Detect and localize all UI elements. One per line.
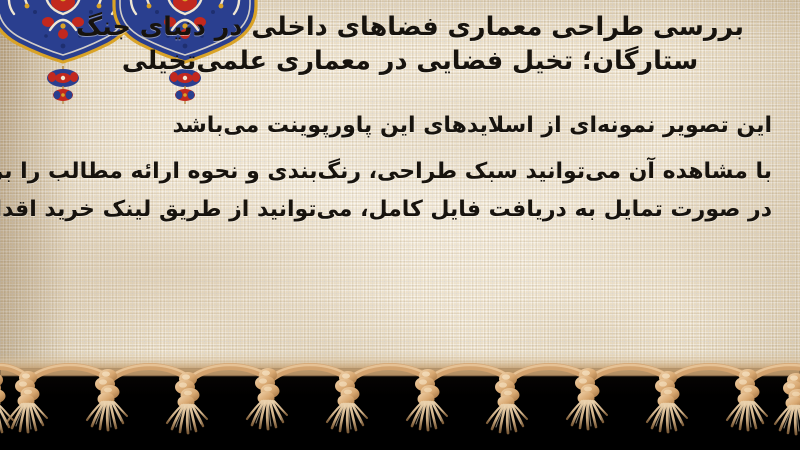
carpet-fringe (0, 350, 800, 450)
body-line-2: با مشاهده آن می‌توانید سبک طراحی، رنگ‌بن… (20, 154, 780, 190)
body-line-3: در صورت تمایل به دریافت فایل کامل، می‌تو… (20, 192, 780, 228)
slide-body: این تصویر نمونه‌ای از اسلایدهای این پاور… (20, 108, 780, 228)
slide-canvas: بررسی طراحی معماری فضاهای داخلی در دنیای… (0, 0, 800, 450)
title-line-2: ستارگان؛ تخیل فضایی در معماری علمی‌تخیلی (60, 44, 760, 78)
title-line-1: بررسی طراحی معماری فضاهای داخلی در دنیای… (60, 10, 760, 44)
body-line-1: این تصویر نمونه‌ای از اسلایدهای این پاور… (20, 108, 780, 144)
slide-title: بررسی طراحی معماری فضاهای داخلی در دنیای… (60, 10, 760, 78)
